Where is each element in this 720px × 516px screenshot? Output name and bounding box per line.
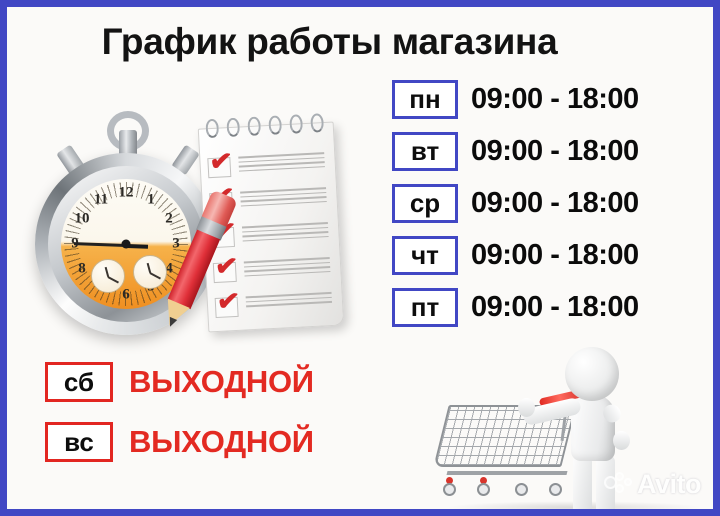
schedule-row: вс ВЫХОДНОЙ bbox=[45, 419, 375, 465]
day-chip-tue: вт bbox=[392, 132, 458, 171]
day-chip-wed: ср bbox=[392, 184, 458, 223]
checkmark-icon: ✔ bbox=[208, 147, 236, 175]
weekday-schedule-list: пн 09:00 - 18:00 вт 09:00 - 18:00 ср 09:… bbox=[392, 77, 692, 337]
hours-wed: 09:00 - 18:00 bbox=[471, 187, 639, 220]
avito-wordmark: Avito bbox=[637, 469, 701, 500]
hours-fri: 09:00 - 18:00 bbox=[471, 291, 639, 324]
avito-watermark: Avito bbox=[604, 469, 701, 500]
checklist-text-lines bbox=[238, 152, 325, 174]
hours-sun: ВЫХОДНОЙ bbox=[129, 424, 314, 460]
figure-head bbox=[565, 347, 619, 401]
schedule-row: пт 09:00 - 18:00 bbox=[392, 285, 692, 329]
figure-leg-left bbox=[573, 455, 592, 512]
day-chip-mon: пн bbox=[392, 80, 458, 119]
spiral-ring-icon bbox=[310, 113, 324, 133]
stopwatch-illustration: 12 1 2 3 4 5 6 7 8 9 10 11 bbox=[29, 111, 225, 337]
stopwatch-number: 6 bbox=[122, 287, 130, 304]
figure-hand-left bbox=[518, 398, 535, 417]
spiral-ring-icon bbox=[289, 114, 303, 134]
stopwatch-crown-icon bbox=[107, 111, 149, 151]
stopwatch-number: 1 bbox=[147, 192, 155, 209]
stopwatch-number: 10 bbox=[75, 211, 90, 228]
cart-wheel bbox=[477, 483, 490, 496]
hours-tue: 09:00 - 18:00 bbox=[471, 135, 639, 168]
spiral-ring-icon bbox=[226, 118, 240, 138]
stopwatch-number: 2 bbox=[165, 211, 173, 228]
cart-wheel bbox=[549, 483, 562, 496]
stopwatch-number: 12 bbox=[119, 185, 134, 202]
weekend-schedule-list: сб ВЫХОДНОЙ вс ВЫХОДНОЙ bbox=[45, 359, 375, 479]
stopwatch-number: 3 bbox=[172, 236, 180, 253]
checklist-text-lines bbox=[246, 292, 333, 310]
schedule-row: пн 09:00 - 18:00 bbox=[392, 77, 692, 121]
day-chip-fri: пт bbox=[392, 288, 458, 327]
schedule-row: чт 09:00 - 18:00 bbox=[392, 233, 692, 277]
avito-logo-icon bbox=[604, 472, 634, 498]
schedule-row: вт 09:00 - 18:00 bbox=[392, 129, 692, 173]
cart-wheel bbox=[443, 483, 456, 496]
stopwatch-subdial-right bbox=[133, 255, 167, 289]
day-chip-sun: вс bbox=[45, 422, 113, 462]
stopwatch-subdial-left bbox=[91, 259, 125, 293]
stopwatch-number: 11 bbox=[94, 192, 108, 209]
checklist-text-lines bbox=[242, 222, 329, 244]
hours-sat: ВЫХОДНОЙ bbox=[129, 364, 314, 400]
cart-wheel bbox=[515, 483, 528, 496]
checklist-text-lines bbox=[244, 257, 331, 279]
day-chip-sat: сб bbox=[45, 362, 113, 402]
cart-base-frame bbox=[447, 471, 568, 475]
schedule-row: сб ВЫХОДНОЙ bbox=[45, 359, 375, 405]
page-title: График работы магазина bbox=[7, 21, 652, 63]
stopwatch-number: 8 bbox=[78, 261, 86, 278]
checklist-text-lines bbox=[240, 187, 327, 209]
hours-thu: 09:00 - 18:00 bbox=[471, 239, 639, 272]
checkmark-icon: ✔ bbox=[214, 252, 242, 280]
spiral-ring-icon bbox=[247, 116, 261, 136]
schedule-row: ср 09:00 - 18:00 bbox=[392, 181, 692, 225]
stopwatch-center-pin bbox=[122, 240, 131, 249]
checkmark-icon: ✔ bbox=[216, 287, 244, 315]
hours-mon: 09:00 - 18:00 bbox=[471, 83, 639, 116]
spiral-ring-icon bbox=[268, 115, 282, 135]
figure-hand-right bbox=[613, 431, 630, 450]
schedule-poster: График работы магазина 12 1 2 3 4 5 6 7 … bbox=[0, 0, 720, 516]
day-chip-thu: чт bbox=[392, 236, 458, 275]
checklist-item: ✔ bbox=[215, 290, 337, 328]
spiral-ring-icon bbox=[205, 119, 219, 139]
